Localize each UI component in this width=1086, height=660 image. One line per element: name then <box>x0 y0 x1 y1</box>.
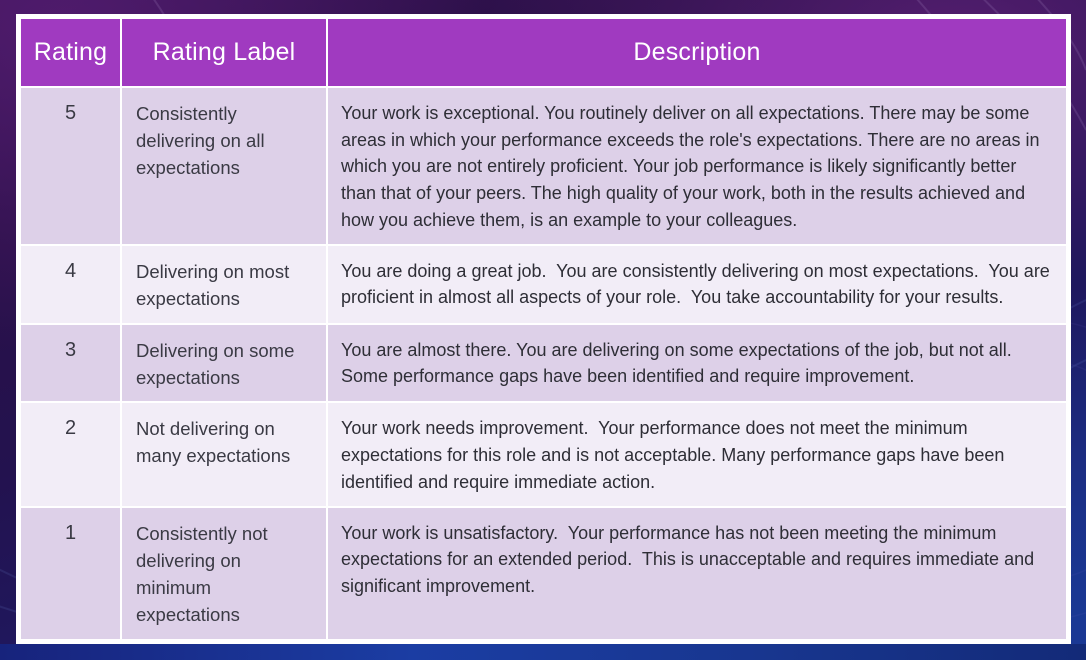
table-row: 3 Delivering on some expectations You ar… <box>21 325 1066 402</box>
cell-rating-label: Consistently not delivering on minimum e… <box>122 508 326 639</box>
table-row: 1 Consistently not delivering on minimum… <box>21 508 1066 639</box>
cell-rating: 5 <box>21 88 120 244</box>
column-header-rating-label: Rating Label <box>122 19 326 86</box>
cell-rating: 1 <box>21 508 120 639</box>
table-row: 2 Not delivering on many expectations Yo… <box>21 403 1066 505</box>
cell-description: You are doing a great job. You are consi… <box>328 246 1066 323</box>
table-header: Rating Rating Label Description <box>21 19 1066 86</box>
cell-rating-label: Delivering on some expectations <box>122 325 326 402</box>
bottom-accent-bar <box>0 644 1086 660</box>
column-header-description: Description <box>328 19 1066 86</box>
cell-rating-label: Consistently delivering on all expectati… <box>122 88 326 244</box>
table-row: 4 Delivering on most expectations You ar… <box>21 246 1066 323</box>
cell-description: Your work is unsatisfactory. Your perfor… <box>328 508 1066 639</box>
cell-rating: 2 <box>21 403 120 505</box>
column-header-rating: Rating <box>21 19 120 86</box>
table-body: 5 Consistently delivering on all expecta… <box>21 88 1066 639</box>
cell-description: Your work is exceptional. You routinely … <box>328 88 1066 244</box>
cell-rating-label: Delivering on most expectations <box>122 246 326 323</box>
rating-scale-table-container: Rating Rating Label Description 5 Consis… <box>16 14 1071 644</box>
cell-rating-label: Not delivering on many expectations <box>122 403 326 505</box>
cell-rating: 3 <box>21 325 120 402</box>
cell-description: Your work needs improvement. Your perfor… <box>328 403 1066 505</box>
cell-description: You are almost there. You are delivering… <box>328 325 1066 402</box>
header-row: Rating Rating Label Description <box>21 19 1066 86</box>
rating-scale-table: Rating Rating Label Description 5 Consis… <box>19 17 1068 641</box>
cell-rating: 4 <box>21 246 120 323</box>
table-row: 5 Consistently delivering on all expecta… <box>21 88 1066 244</box>
